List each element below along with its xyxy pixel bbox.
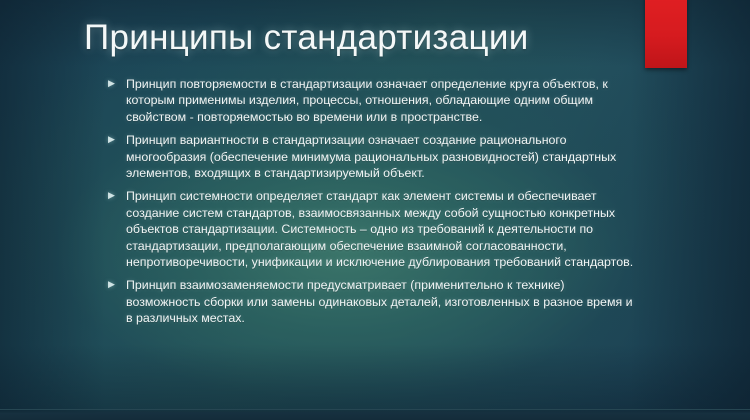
list-item: ▶ Принцип повторяемости в стандартизации…: [108, 76, 642, 125]
presentation-slide: Принципы стандартизации ▶ Принцип повтор…: [0, 0, 750, 420]
red-accent-bar: [645, 0, 687, 68]
list-item-text: Принцип вариантности в стандартизации оз…: [126, 132, 642, 181]
slide-body-bullet-list: ▶ Принцип повторяемости в стандартизации…: [108, 76, 642, 327]
list-item-text: Принцип повторяемости в стандартизации о…: [126, 76, 642, 125]
list-item-text: Принцип взаимозаменяемости предусматрива…: [126, 277, 642, 326]
slide-bottom-band: [0, 409, 750, 420]
list-item-text: Принцип системности определяет стандарт …: [126, 188, 642, 270]
list-item: ▶ Принцип системности определяет стандар…: [108, 188, 642, 270]
list-item: ▶ Принцип взаимозаменяемости предусматри…: [108, 277, 642, 326]
triangle-bullet-icon: ▶: [108, 188, 126, 200]
triangle-bullet-icon: ▶: [108, 277, 126, 289]
list-item: ▶ Принцип вариантности в стандартизации …: [108, 132, 642, 181]
triangle-bullet-icon: ▶: [108, 132, 126, 144]
triangle-bullet-icon: ▶: [108, 76, 126, 88]
slide-title: Принципы стандартизации: [84, 18, 644, 58]
